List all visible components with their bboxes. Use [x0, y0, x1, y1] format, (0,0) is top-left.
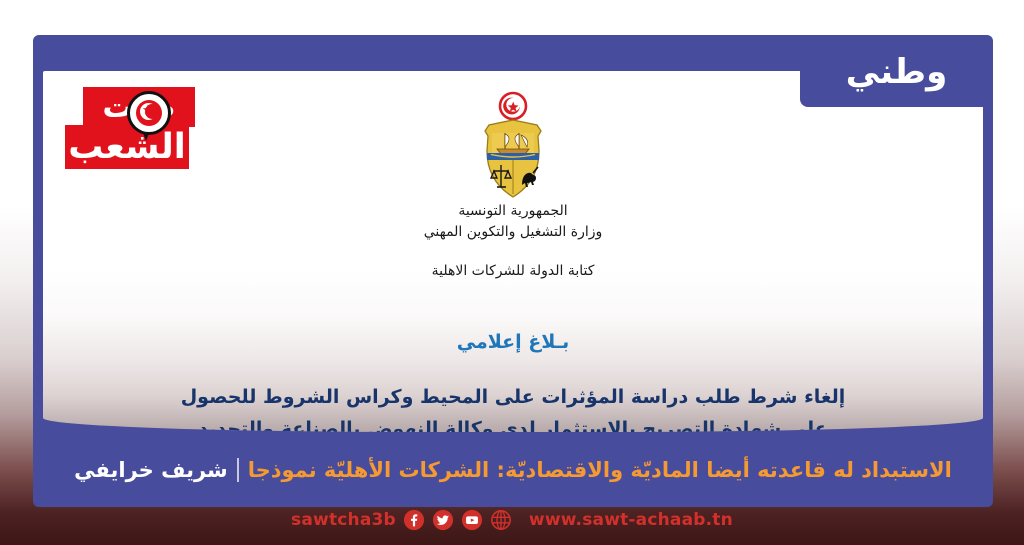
- poster-canvas: وطني صـت ★ الشعب: [0, 0, 1024, 545]
- footer-author: شريف خرايفي: [74, 460, 228, 481]
- poster-frame: وطني صـت ★ الشعب: [33, 35, 993, 507]
- social-bar: sawtcha3b: [0, 505, 1024, 535]
- logo-bottom-text: الشعب: [68, 130, 186, 165]
- website-url[interactable]: www.sawt-achaab.tn: [529, 510, 733, 530]
- footer-headline[interactable]: الاستبداد له قاعدته أيضا الماديّة والاقت…: [248, 460, 952, 481]
- press-release-title: بـلاغ إعلامي: [43, 331, 983, 353]
- star-glyph: ★: [142, 104, 154, 117]
- ministry-line-3: كتابة الدولة للشركات الاهلية: [43, 261, 983, 282]
- category-tab[interactable]: وطني: [800, 40, 993, 107]
- footer-separator: [237, 458, 239, 482]
- logo-bottom-word: الشعب: [65, 125, 189, 169]
- announcement-card: صـت ★ الشعب: [43, 71, 983, 432]
- social-handle: sawtcha3b: [291, 510, 396, 530]
- announcement-body: إلغاء شرط طلب دراسة المؤثرات على المحيط …: [163, 381, 863, 432]
- ministry-header: الجمهورية التونسية وزارة التشغيل والتكوي…: [43, 201, 983, 282]
- tunisia-flag-circle-icon: ★: [127, 91, 171, 135]
- globe-icon[interactable]: [490, 509, 512, 531]
- ministry-line-1: الجمهورية التونسية: [43, 201, 983, 222]
- ministry-line-2: وزارة التشغيل والتكوين المهني: [43, 222, 983, 243]
- facebook-icon[interactable]: [403, 509, 425, 531]
- sawt-achaab-logo[interactable]: صـت ★ الشعب: [65, 85, 197, 177]
- youtube-icon[interactable]: [461, 509, 483, 531]
- twitter-icon[interactable]: [432, 509, 454, 531]
- tunisia-coat-of-arms-icon: [475, 89, 551, 201]
- category-tab-label: وطني: [846, 55, 947, 93]
- footer-headline-strip: الاستبداد له قاعدته أيضا الماديّة والاقت…: [43, 441, 983, 499]
